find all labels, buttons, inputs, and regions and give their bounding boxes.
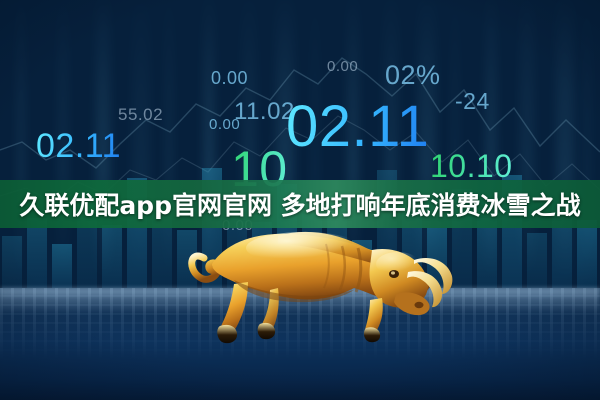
promo-banner-image: 0.0055.0211.020.0002.110.0002%-2402.1110… [0,0,600,400]
floating-number: 02% [385,60,441,91]
golden-bull-statue [186,206,456,356]
floating-number: 02.11 [36,127,121,166]
floating-number: 55.02 [118,105,163,125]
floating-number: 0.00 [211,68,248,89]
banner-title-text: 久联优配app官网官网 多地打响年底消费冰雪之战 [0,180,600,228]
floating-number: 0.00 [209,116,240,133]
floating-number: 02.11 [286,93,429,160]
floating-number: 0.00 [327,58,358,75]
floating-number: -24 [455,88,490,115]
